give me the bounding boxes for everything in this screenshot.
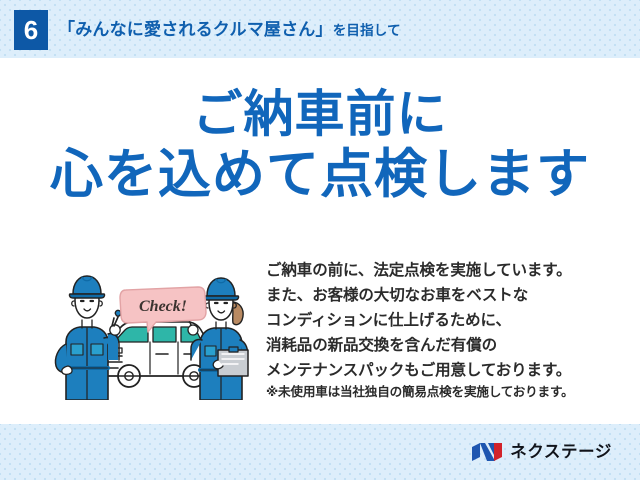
promo-slide: 6 「みんなに愛されるクルマ屋さん」を目指して ご納車前に 心を込めて点検します… [0,0,640,480]
nextage-n-mark [471,442,503,462]
headline-line-2: 心を込めて点検します [0,147,640,203]
headline: ご納車前に 心を込めて点検します [0,88,640,203]
body-copy: ご納車の前に、法定点検を実施しています。 また、お客様の大切なお車をベストな コ… [266,258,626,384]
body-line: 消耗品の新品交換を含んだ有償の [266,333,626,358]
brand-name: ネクステージ [510,442,612,462]
body-line: コンディションに仕上げるために、 [266,308,626,333]
body-note: ※未使用車は当社独自の簡易点検を実施しております。 [266,381,626,400]
header-title-tail: を目指して [333,23,401,38]
header-title-quoted: 「みんなに愛されるクルマ屋さん」 [58,20,333,39]
step-number-badge: 6 [14,10,48,50]
headline-line-1: ご納車前に [0,88,640,141]
body-line: また、お客様の大切なお車をベストな [266,283,626,308]
brand-logo: ネクステージ [471,440,612,464]
body-line: メンテナンスパックもご用意しております。 [266,358,626,383]
mechanics-illustration: Check! [52,268,258,400]
male-mechanic-with-wrench [55,276,120,400]
header-title: 「みんなに愛されるクルマ屋さん」を目指して [58,17,401,43]
body-line: ご納車の前に、法定点検を実施しています。 [266,258,626,283]
check-bubble-text: Check! [139,298,187,315]
